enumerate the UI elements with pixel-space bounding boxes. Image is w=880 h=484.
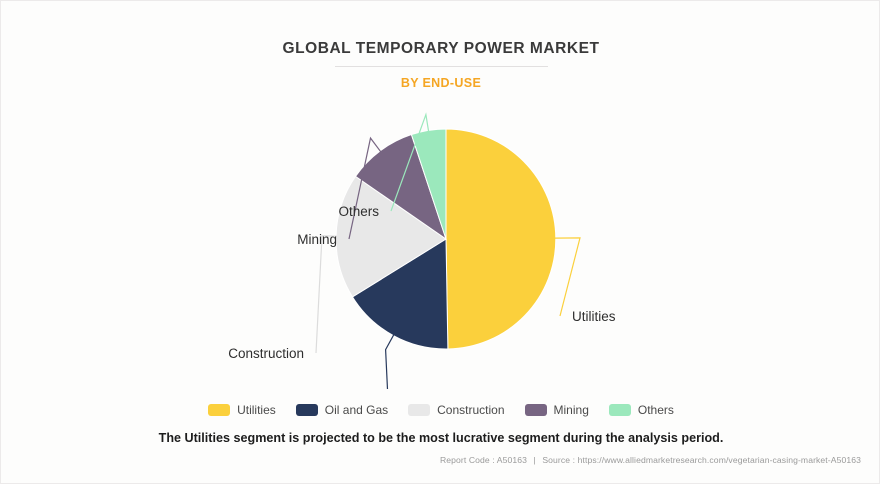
title-divider (335, 66, 548, 67)
legend-label-mining: Mining (554, 403, 589, 417)
leader-line-oil-and-gas (386, 335, 394, 389)
pie-chart-svg: UtilitiesOil and GasConstructionMiningOt… (1, 99, 880, 389)
legend-swatch-construction (408, 404, 430, 416)
legend-label-utilities: Utilities (237, 403, 276, 417)
pie-slice-utilities[interactable] (446, 129, 556, 349)
source-separator: | (530, 455, 540, 465)
chart-legend: Utilities Oil and Gas Construction Minin… (1, 403, 880, 417)
legend-label-construction: Construction (437, 403, 504, 417)
legend-item-mining[interactable]: Mining (525, 403, 589, 417)
legend-item-oil-and-gas[interactable]: Oil and Gas (296, 403, 388, 417)
leader-line-construction (316, 236, 337, 353)
pie-label-mining: Mining (297, 232, 337, 247)
footer-source-line: Report Code : A50163 | Source : https://… (440, 454, 861, 466)
pie-label-others: Others (338, 204, 379, 219)
chart-card: GLOBAL TEMPORARY POWER MARKET BY END-USE… (0, 0, 880, 484)
legend-swatch-others (609, 404, 631, 416)
legend-swatch-utilities (208, 404, 230, 416)
chart-header: GLOBAL TEMPORARY POWER MARKET BY END-USE (1, 39, 880, 91)
leader-line-utilities (555, 238, 580, 316)
legend-item-construction[interactable]: Construction (408, 403, 504, 417)
pie-chart-plot-area: UtilitiesOil and GasConstructionMiningOt… (1, 99, 880, 389)
pie-slices (336, 129, 556, 349)
pie-label-construction: Construction (228, 346, 304, 361)
source-url[interactable]: Source : https://www.alliedmarketresearc… (542, 455, 861, 465)
chart-subtitle: BY END-USE (1, 75, 880, 91)
legend-item-others[interactable]: Others (609, 403, 674, 417)
legend-label-oil-and-gas: Oil and Gas (325, 403, 388, 417)
legend-swatch-oil-and-gas (296, 404, 318, 416)
legend-swatch-mining (525, 404, 547, 416)
page-title: GLOBAL TEMPORARY POWER MARKET (1, 39, 880, 59)
legend-item-utilities[interactable]: Utilities (208, 403, 276, 417)
pie-label-utilities: Utilities (572, 309, 616, 324)
footer-insight-text: The Utilities segment is projected to be… (1, 430, 880, 447)
legend-label-others: Others (638, 403, 674, 417)
report-code: Report Code : A50163 (440, 455, 527, 465)
